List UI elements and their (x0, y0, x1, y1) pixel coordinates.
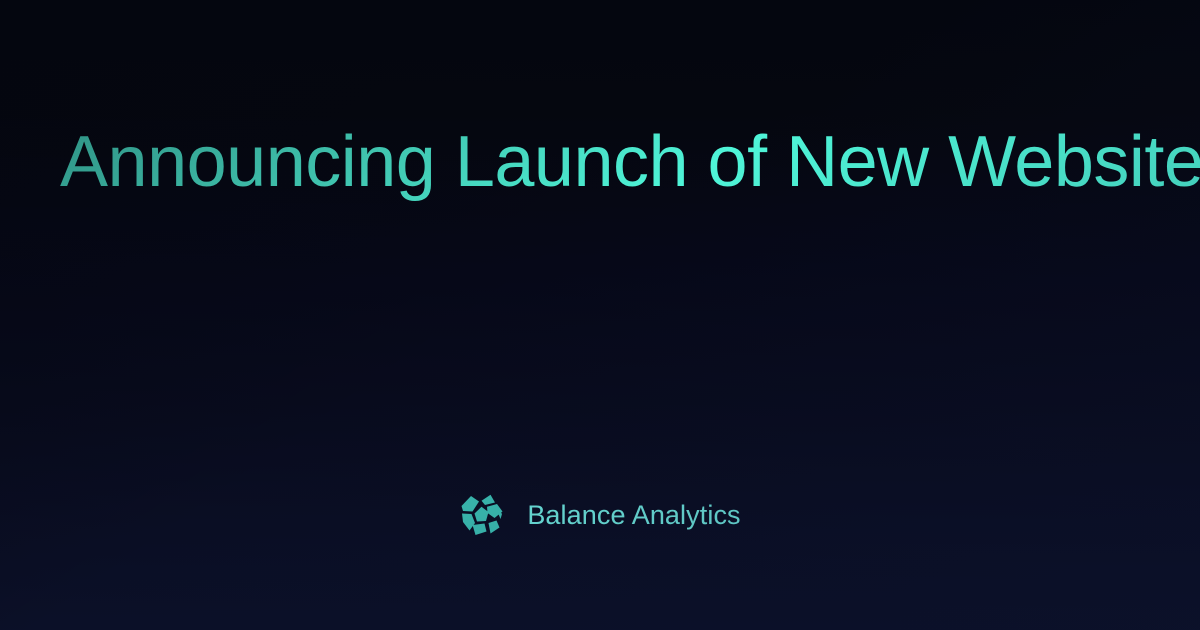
brand-name: Balance Analytics (527, 502, 740, 529)
faceted-polyhedron-logo-icon (459, 492, 505, 538)
page-title: Announcing Launch of New Website (60, 122, 1140, 203)
social-share-card: Announcing Launch of New Website (0, 0, 1200, 630)
brand-footer: Balance Analytics (0, 492, 1200, 538)
headline-block: Announcing Launch of New Website (60, 122, 1140, 203)
